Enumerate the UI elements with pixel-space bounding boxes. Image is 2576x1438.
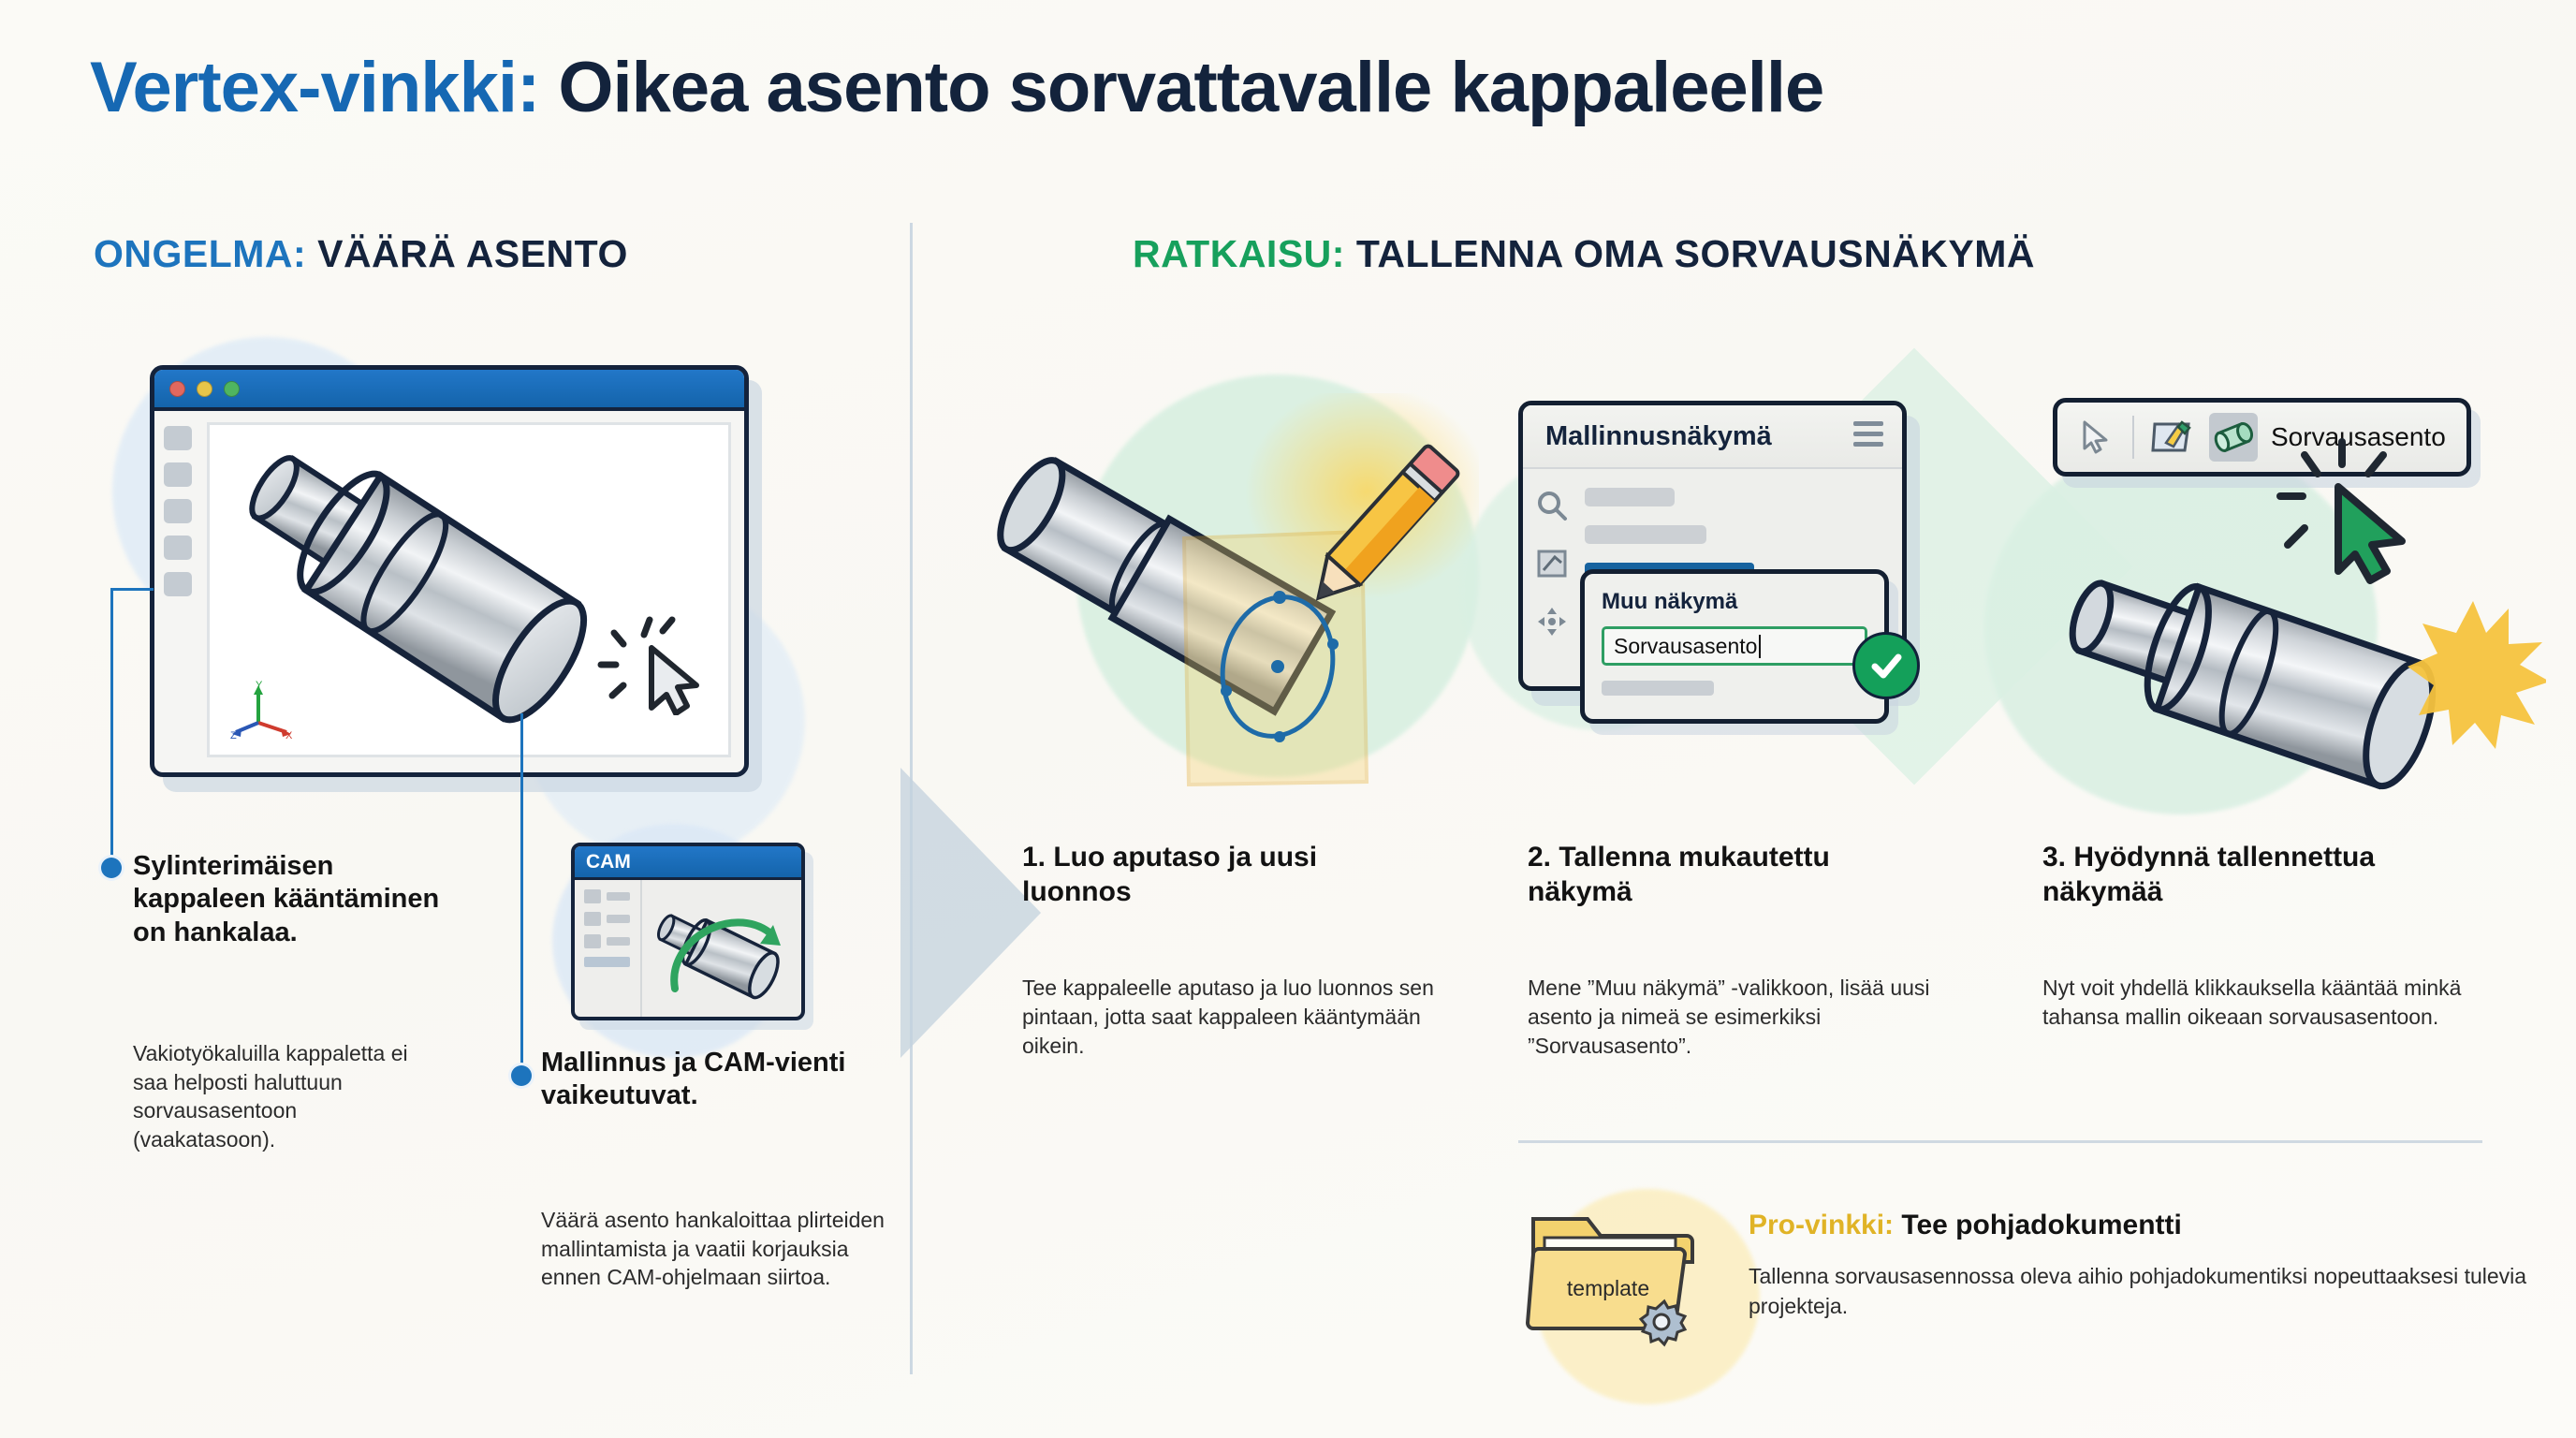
leader-line [110, 588, 113, 859]
hamburger-icon[interactable] [1853, 421, 1883, 452]
pointer-icon[interactable] [2071, 413, 2119, 462]
cad-window-titlebar [154, 370, 744, 411]
leader-line [110, 588, 154, 591]
problem-bullet-body: Vakiotyökaluilla kappaletta ei saa helpo… [133, 1039, 414, 1153]
rotating-cylinder-icon [642, 884, 801, 1015]
pro-tip-title: Pro-vinkki: Tee pohjadokumentti [1749, 1210, 2182, 1241]
maximize-icon[interactable] [224, 381, 240, 397]
page-title-rest: Oikea asento sorvattavalle kappaleelle [539, 48, 1823, 127]
step-title-2: 2. Tallenna mukautettu näkymä [1528, 841, 1921, 909]
flow-chevron-icon [900, 768, 1041, 1058]
page-title-accent: Vertex-vinkki: [90, 48, 539, 127]
placeholder-row [1585, 488, 1675, 506]
cam-card-body [575, 880, 801, 1017]
view-name-input-value: Sorvausasento [1614, 634, 1757, 659]
pro-tip-heading: Tee pohjadokumentti [1894, 1210, 2182, 1240]
close-icon[interactable] [169, 381, 185, 397]
tool-button[interactable] [164, 462, 192, 487]
section-header-problem-label: ONGELMA: [94, 232, 306, 275]
toolbar-separator [2132, 416, 2134, 459]
view-name-input[interactable]: Sorvausasento [1602, 626, 1867, 666]
minimize-icon[interactable] [197, 381, 212, 397]
section-header-problem-value: VÄÄRÄ ASENTO [306, 232, 628, 275]
list-item [584, 957, 630, 967]
step-title-1: 1. Luo aputaso ja uusi luonnos [1022, 841, 1434, 909]
cad-tool-rail[interactable] [154, 411, 207, 772]
step-title-3: 3. Hyödynnä tallennettua näkymää [2042, 841, 2482, 909]
cam-card-list [575, 880, 642, 1017]
pro-tip-label: Pro-vinkki: [1749, 1210, 1894, 1240]
search-icon[interactable] [1536, 490, 1568, 521]
model-view-panel-header: Mallinnusnäkymä [1523, 405, 1902, 469]
section-header-solution: RATKAISU: TALLENNA OMA SORVAUSNÄKYMÄ [1133, 232, 2035, 276]
svg-text:Z: Z [230, 730, 237, 740]
bullet-marker [511, 1065, 532, 1086]
pro-tip-divider [1518, 1140, 2482, 1143]
list-item [584, 889, 640, 903]
step-body-3: Nyt voit yhdellä klikkauksella kääntää m… [2042, 974, 2482, 1032]
sketch-plane-icon[interactable] [2147, 413, 2196, 462]
folder-tag-label: template [1567, 1276, 1649, 1300]
tool-button[interactable] [164, 426, 192, 450]
click-cursor-icon [595, 603, 708, 715]
cad-viewport[interactable]: Y X Z [207, 422, 731, 757]
placeholder-row [1585, 525, 1706, 544]
section-header-solution-value: TALLENNA OMA SORVAUSNÄKYMÄ [1345, 232, 2035, 275]
pro-tip-body: Tallenna sorvausasennossa oleva aihio po… [1749, 1262, 2572, 1321]
move-icon[interactable] [1536, 606, 1568, 638]
new-view-dialog-label: Muu näkymä [1602, 589, 1867, 615]
cam-preview-card[interactable]: CAM [571, 843, 805, 1020]
cad-window-body: Y X Z [154, 411, 744, 772]
step-body-1: Tee kappaleelle aputaso ja luo luonnos s… [1022, 974, 1453, 1061]
sketch-icon[interactable] [1536, 548, 1568, 580]
cylinder-model-aligned-icon [2041, 552, 2546, 833]
bullet-marker [101, 858, 122, 878]
list-item [584, 912, 640, 926]
step1-sketch-plane-illustration [992, 393, 1479, 796]
problem-bullet-title: Mallinnus ja CAM-vienti vaikeutuvat. [541, 1047, 850, 1113]
check-icon[interactable] [1852, 632, 1920, 699]
page-title: Vertex-vinkki: Oikea asento sorvattavall… [90, 47, 1823, 128]
placeholder-row [1602, 681, 1714, 696]
leader-line [520, 713, 523, 1067]
svg-text:Y: Y [256, 680, 263, 691]
cam-card-preview [642, 880, 801, 1017]
list-item [584, 934, 640, 948]
step-body-2: Mene ”Muu näkymä” -valikkoon, lisää uusi… [1528, 974, 1968, 1061]
cad-window[interactable]: Y X Z [150, 365, 749, 777]
svg-text:X: X [285, 730, 293, 740]
infographic-canvas: Vertex-vinkki: Oikea asento sorvattavall… [0, 0, 2576, 1438]
tool-button[interactable] [164, 536, 192, 560]
new-view-dialog[interactable]: Muu näkymä Sorvausasento [1580, 569, 1889, 724]
problem-bullet-body: Väärä asento hankaloittaa plirteiden mal… [541, 1206, 901, 1292]
tool-button[interactable] [164, 499, 192, 523]
model-view-panel-title: Mallinnusnäkymä [1545, 421, 1772, 452]
section-header-solution-label: RATKAISU: [1133, 232, 1345, 275]
cam-card-title: CAM [575, 846, 801, 880]
problem-bullet-title: Sylinterimäisen kappaleen kääntäminen on… [133, 850, 470, 949]
model-view-rail[interactable] [1523, 469, 1581, 684]
template-folder-icon: template [1526, 1191, 1704, 1359]
section-header-problem: ONGELMA: VÄÄRÄ ASENTO [94, 232, 628, 276]
axis-triad-icon: Y X Z [230, 680, 296, 740]
tool-button[interactable] [164, 572, 192, 596]
